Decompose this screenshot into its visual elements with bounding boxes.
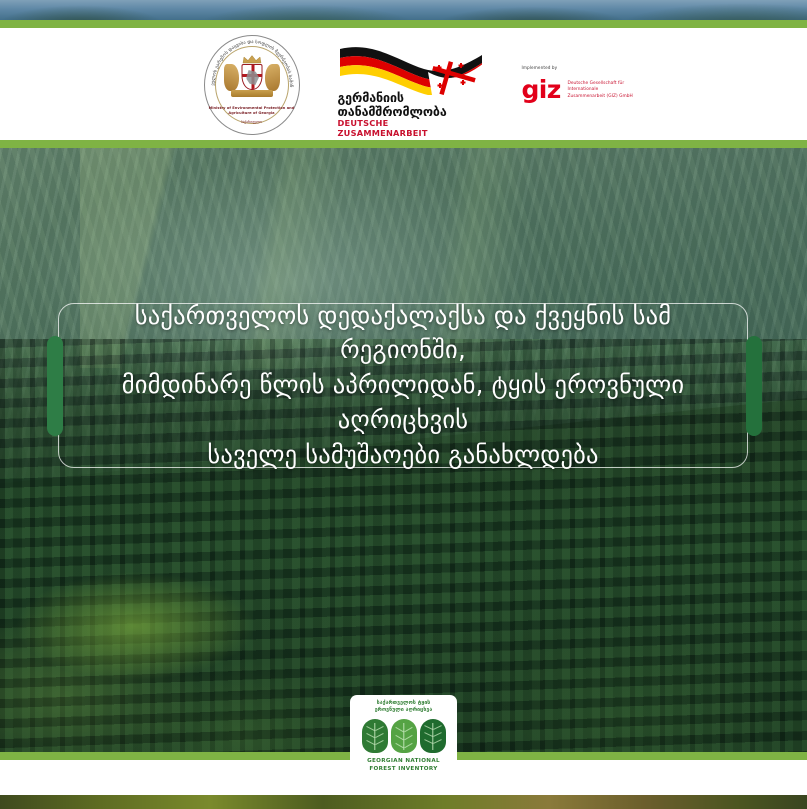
giz-agency-label: Implemented by	[522, 65, 558, 70]
gnfi-title-ka-line2: ეროვნული აღრიცხვა	[354, 707, 453, 714]
st-george-rider-icon	[246, 70, 259, 85]
leaf-icon-3	[420, 719, 446, 753]
emblem-ribbon	[231, 90, 273, 97]
header-photo-strip	[0, 0, 807, 22]
flag-wave-icon	[336, 39, 486, 95]
giz-wordmark: giz	[522, 77, 561, 102]
headline-line-3: საველე სამუშაოები განახლდება	[75, 438, 731, 473]
leaf-icon-1	[362, 719, 388, 753]
crown-icon	[242, 55, 262, 64]
accent-bar-right	[746, 336, 762, 436]
gnfi-title-en-line1: GEORGIAN NATIONAL	[354, 757, 453, 765]
headline-text: საქართველოს დედაქალაქსა და ქვეყნის სამ რ…	[75, 299, 731, 473]
green-divider-top	[0, 20, 807, 28]
leaf-icon-2	[391, 719, 417, 753]
headline-line-2: მიმდინარე წლის აპრილიდან, ტყის ეროვნული …	[75, 368, 731, 438]
ministry-caption-ka: საქართველო	[204, 120, 300, 124]
german-logo-title-ka: გერმანიის თანამშრომლობა	[338, 91, 464, 119]
ridge-layer	[0, 0, 807, 22]
gnfi-title-en-line2: FOREST INVENTORY	[354, 765, 453, 773]
lion-left-icon	[224, 64, 239, 91]
footer-photo-strip	[0, 795, 807, 809]
footer-photo-texture	[0, 795, 807, 809]
shield-icon	[241, 64, 262, 90]
german-cooperation-logo: გერმანიის თანამშრომლობა DEUTSCHE ZUSAMME…	[336, 39, 486, 131]
meadow-highlight-layer	[0, 551, 300, 701]
headline-card: საქართველოს დედაქალაქსა და ქვეყნის სამ რ…	[58, 303, 748, 468]
lion-right-icon	[265, 64, 280, 91]
three-leaves-icon	[354, 719, 453, 753]
giz-logo: Implemented by giz Deutsche Gesellschaft…	[522, 65, 634, 123]
announcement-banner: საქართველოს გარემოს დაცვისა და სოფლის მე…	[0, 0, 807, 809]
ministry-caption-en: Ministry of Environmental Protection and…	[204, 106, 300, 116]
headline-line-1: საქართველოს დედაქალაქსა და ქვეყნის სამ რ…	[75, 299, 731, 369]
partner-logo-band: საქართველოს გარემოს დაცვისა და სოფლის მე…	[0, 22, 807, 148]
emblem-coat-of-arms	[223, 56, 281, 100]
logo-row: საქართველოს გარემოს დაცვისა და სოფლის მე…	[0, 22, 807, 148]
accent-bar-left	[47, 336, 63, 436]
green-divider-header-bottom	[0, 140, 807, 148]
german-logo-subtitle-de: DEUTSCHE ZUSAMMENARBEIT	[338, 118, 478, 138]
giz-full-name: Deutsche Gesellschaft für Internationale…	[568, 81, 634, 100]
gnfi-logo-badge: საქართველოს ტყის ეროვნული აღრიცხვა	[350, 695, 457, 785]
ministry-emblem-icon: საქართველოს გარემოს დაცვისა და სოფლის მე…	[204, 35, 300, 135]
